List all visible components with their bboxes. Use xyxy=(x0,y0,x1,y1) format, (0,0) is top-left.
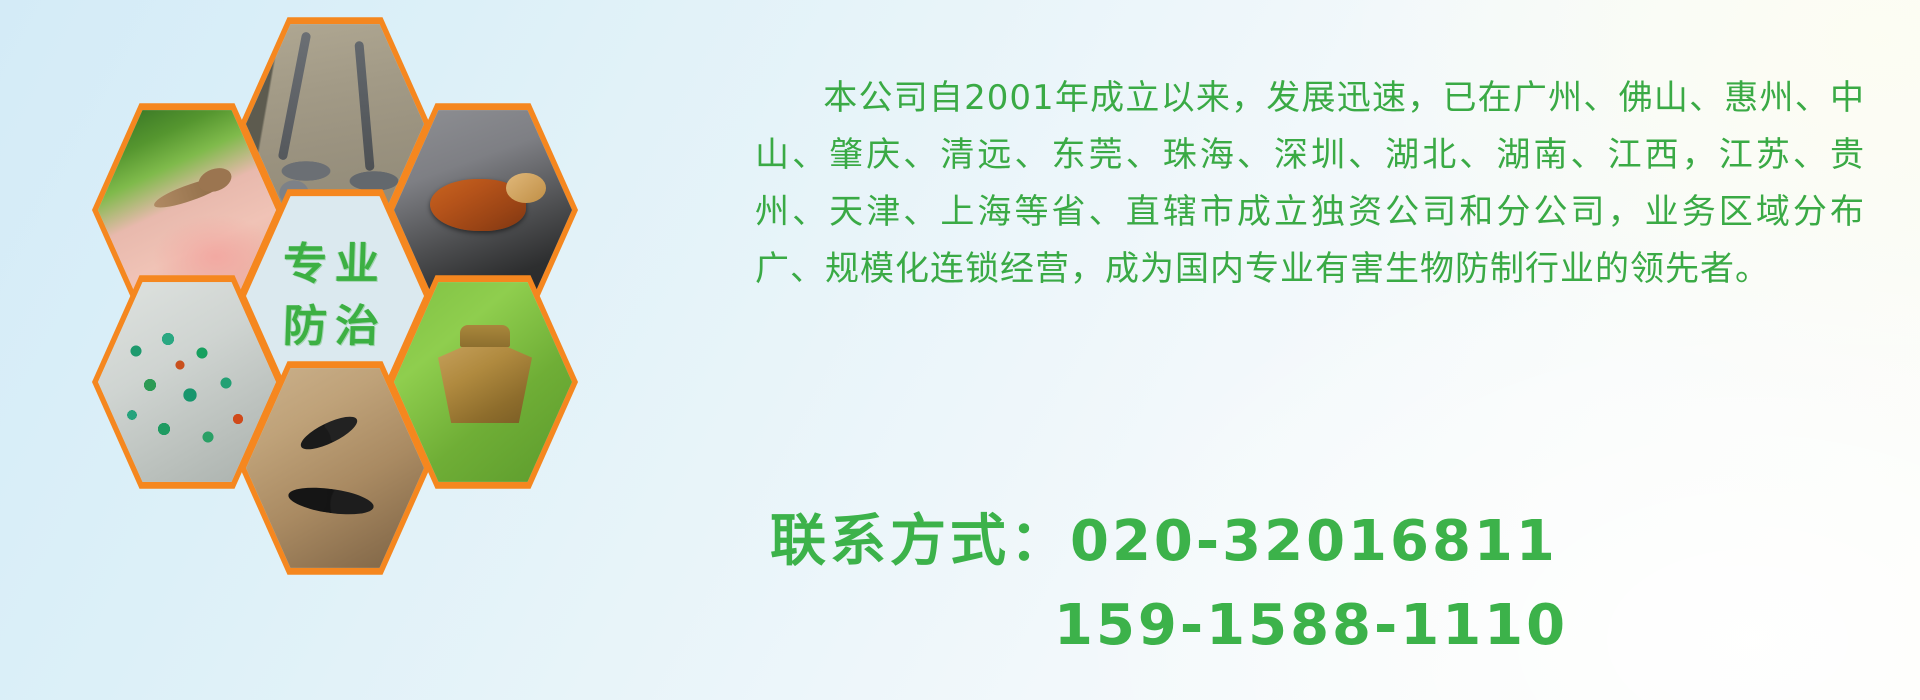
contact-phone-landline[interactable]: 020-32016811 xyxy=(1070,509,1558,574)
slogan-line-1: 专业 xyxy=(282,234,388,296)
contact-phone-mobile[interactable]: 159-1588-1110 xyxy=(1054,593,1568,658)
contact-block: 联系方式：020-32016811 159-1588-1110 xyxy=(770,500,1900,668)
contact-label: 联系方式： xyxy=(770,509,1070,574)
promo-banner: 专业 防治 本公司自2001年成立以来，发展迅速，已在广州、佛山、惠州、中山、肇… xyxy=(0,0,1920,700)
company-intro-paragraph: 本公司自2001年成立以来，发展迅速，已在广州、佛山、惠州、中山、肇庆、清远、东… xyxy=(755,70,1865,298)
slogan-line-2: 防治 xyxy=(282,296,388,358)
paragraph-text: 本公司自2001年成立以来，发展迅速，已在广州、佛山、惠州、中山、肇庆、清远、东… xyxy=(755,78,1865,289)
ants-photo xyxy=(246,365,424,571)
contact-row-landline: 联系方式：020-32016811 xyxy=(770,500,1900,584)
hex-inner-ants xyxy=(246,365,424,571)
company-intro-block: 本公司自2001年成立以来，发展迅速，已在广州、佛山、惠州、中山、肇庆、清远、东… xyxy=(755,36,1865,332)
contact-row-mobile: 159-1588-1110 xyxy=(770,584,1900,668)
honeycomb-cluster: 专业 防治 xyxy=(92,8,612,692)
